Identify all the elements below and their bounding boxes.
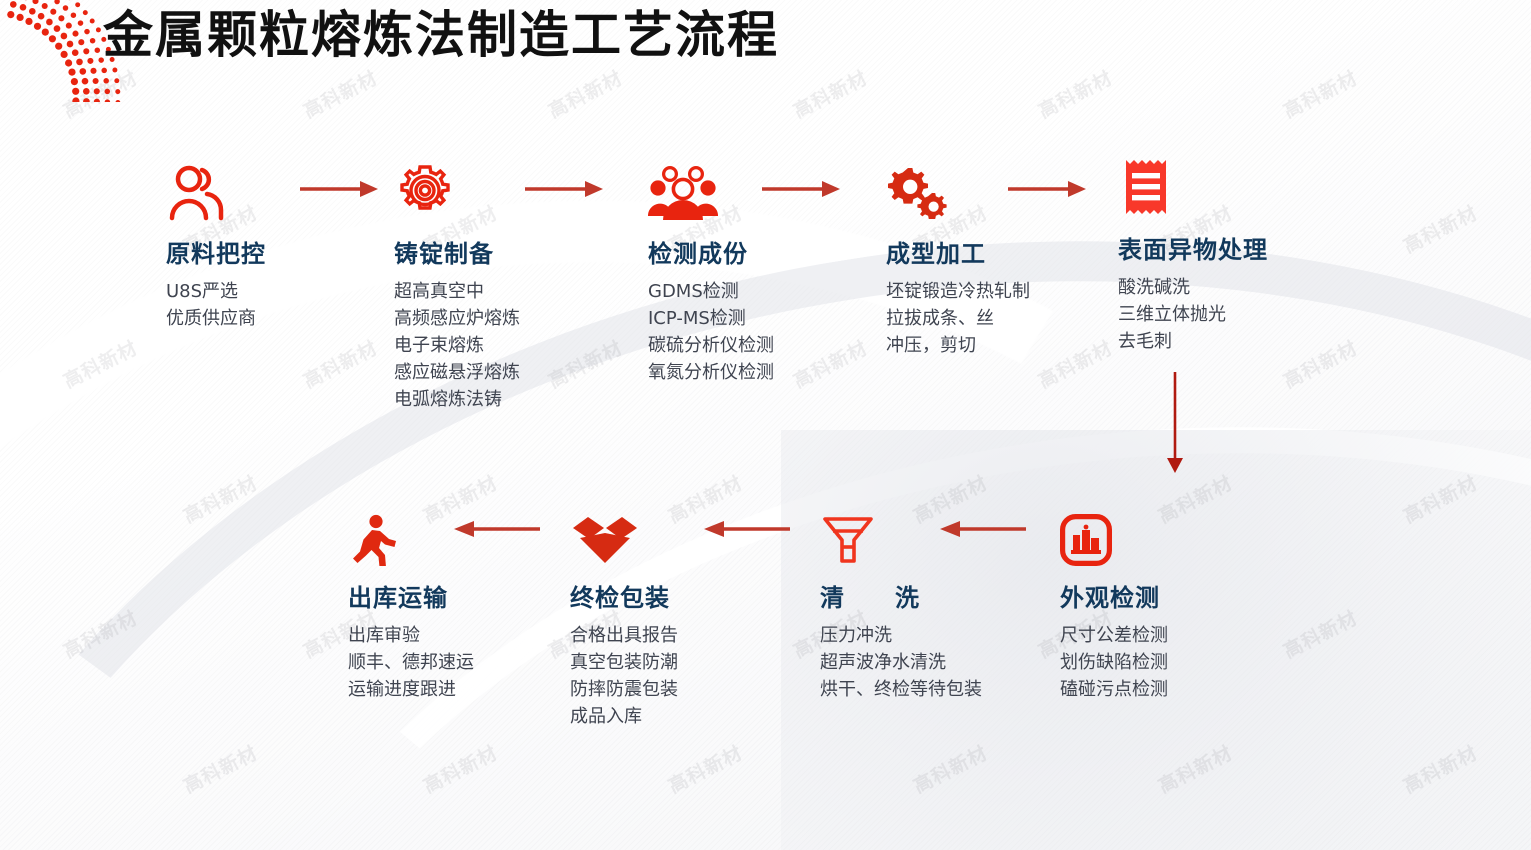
body-line: 拉拔成条、丝 bbox=[886, 305, 1030, 332]
flow-step-7-body: 压力冲洗超声波净水清洗烘干、终检等待包装 bbox=[820, 622, 998, 703]
body-line: 三维立体抛光 bbox=[1118, 301, 1268, 328]
flow-arrow-1 bbox=[300, 178, 380, 200]
receipt-document-icon bbox=[1118, 156, 1268, 218]
flow-step-4-body: 坯锭锻造冷热轧制拉拔成条、丝冲压，剪切 bbox=[886, 278, 1030, 359]
watermark-text: 高科新材 bbox=[1398, 738, 1482, 798]
body-line: U8S严选 bbox=[166, 278, 266, 305]
gear-concentric-icon bbox=[394, 160, 520, 222]
funnel-icon bbox=[820, 504, 998, 566]
watermark-text: 高科新材 bbox=[58, 603, 142, 663]
watermark-text: 高科新材 bbox=[58, 333, 142, 393]
watermark-text: 高科新材 bbox=[543, 333, 627, 393]
body-line: 出库审验 bbox=[348, 622, 474, 649]
body-line: 磕碰污点检测 bbox=[1060, 676, 1168, 703]
body-line: ICP-MS检测 bbox=[648, 305, 774, 332]
background-decoration bbox=[0, 0, 1531, 850]
watermark-text: 高科新材 bbox=[1398, 198, 1482, 258]
flow-step-2-body: 超高真空中高频感应炉熔炼电子束熔炼感应磁悬浮熔炼电弧熔炼法铸 bbox=[394, 278, 520, 413]
body-line: 真空包装防潮 bbox=[570, 649, 678, 676]
slide-canvas: 高科新材高科新材高科新材高科新材高科新材高科新材高科新材高科新材高科新材高科新材… bbox=[0, 0, 1531, 850]
body-line: 氧氮分析仪检测 bbox=[648, 359, 774, 386]
flow-step-1-body: U8S严选优质供应商 bbox=[166, 278, 266, 332]
watermark-layer: 高科新材高科新材高科新材高科新材高科新材高科新材高科新材高科新材高科新材高科新材… bbox=[0, 0, 1531, 850]
flow-step-9[interactable]: 出库运输 出库审验顺丰、德邦速运运输进度跟进 bbox=[348, 504, 474, 703]
flow-step-8[interactable]: 终检包装 合格出具报告真空包装防潮防摔防震包装成品入库 bbox=[570, 504, 678, 730]
body-line: 划伤缺陷检测 bbox=[1060, 649, 1168, 676]
page-title: 金属颗粒熔炼法制造工艺流程 bbox=[103, 4, 779, 66]
flow-step-3-title: 检测成份 bbox=[648, 234, 774, 269]
watermark-text: 高科新材 bbox=[1398, 468, 1482, 528]
body-line: 超高真空中 bbox=[394, 278, 520, 305]
flow-step-3[interactable]: 检测成份 GDMS检测ICP-MS检测碳硫分析仪检测氧氮分析仪检测 bbox=[648, 160, 774, 386]
background-swoosh-1 bbox=[0, 7, 1531, 850]
body-line: 烘干、终检等待包装 bbox=[820, 676, 998, 703]
watermark-text: 高科新材 bbox=[1278, 63, 1362, 123]
flow-step-7[interactable]: 清 洗 压力冲洗超声波净水清洗烘干、终检等待包装 bbox=[820, 504, 998, 703]
watermark-text: 高科新材 bbox=[298, 63, 382, 123]
flow-step-8-body: 合格出具报告真空包装防潮防摔防震包装成品入库 bbox=[570, 622, 678, 730]
body-line: 顺丰、德邦速运 bbox=[348, 649, 474, 676]
flow-step-1-title: 原料把控 bbox=[166, 234, 266, 269]
body-line: 超声波净水清洗 bbox=[820, 649, 998, 676]
flow-step-6-body: 尺寸公差检测划伤缺陷检测磕碰污点检测 bbox=[1060, 622, 1168, 703]
body-line: 尺寸公差检测 bbox=[1060, 622, 1168, 649]
background-hairline-stripes bbox=[0, 0, 1531, 850]
body-line: 去毛刺 bbox=[1118, 328, 1268, 355]
body-line: 坯锭锻造冷热轧制 bbox=[886, 278, 1030, 305]
watermark-text: 高科新材 bbox=[178, 468, 262, 528]
watermark-text: 高科新材 bbox=[1278, 333, 1362, 393]
watermark-text: 高科新材 bbox=[543, 63, 627, 123]
body-line: 成品入库 bbox=[570, 703, 678, 730]
body-line: 碳硫分析仪检测 bbox=[648, 332, 774, 359]
body-line: GDMS检测 bbox=[648, 278, 774, 305]
watermark-text: 高科新材 bbox=[663, 738, 747, 798]
body-line: 电弧熔炼法铸 bbox=[394, 386, 520, 413]
body-line: 压力冲洗 bbox=[820, 622, 998, 649]
flow-arrow-2 bbox=[525, 178, 605, 200]
flow-step-3-body: GDMS检测ICP-MS检测碳硫分析仪检测氧氮分析仪检测 bbox=[648, 278, 774, 386]
watermark-text: 高科新材 bbox=[178, 738, 262, 798]
watermark-text: 高科新材 bbox=[1033, 63, 1117, 123]
flow-step-8-title: 终检包装 bbox=[570, 578, 678, 613]
body-line: 冲压，剪切 bbox=[886, 332, 1030, 359]
watermark-text: 高科新材 bbox=[788, 63, 872, 123]
watermark-text: 高科新材 bbox=[908, 738, 992, 798]
flow-arrow-6 bbox=[702, 518, 790, 540]
flow-step-4-title: 成型加工 bbox=[886, 234, 1030, 269]
watermark-text: 高科新材 bbox=[418, 738, 502, 798]
body-line: 优质供应商 bbox=[166, 305, 266, 332]
two-people-outline-icon bbox=[166, 160, 266, 222]
watermark-text: 高科新材 bbox=[788, 333, 872, 393]
body-line: 高频感应炉熔炼 bbox=[394, 305, 520, 332]
body-line: 运输进度跟进 bbox=[348, 676, 474, 703]
flow-arrow-4 bbox=[1008, 178, 1088, 200]
flow-step-7-title: 清 洗 bbox=[820, 578, 998, 613]
flow-step-6-title: 外观检测 bbox=[1060, 578, 1168, 613]
flow-step-2-title: 铸锭制备 bbox=[394, 234, 520, 269]
body-line: 防摔防震包装 bbox=[570, 676, 678, 703]
flow-step-5-title: 表面异物处理 bbox=[1118, 230, 1268, 265]
people-group-icon bbox=[648, 160, 774, 222]
watermark-text: 高科新材 bbox=[1278, 603, 1362, 663]
flow-step-9-title: 出库运输 bbox=[348, 578, 474, 613]
background-gradient bbox=[0, 0, 1531, 850]
flow-step-2[interactable]: 铸锭制备 超高真空中高频感应炉熔炼电子束熔炼感应磁悬浮熔炼电弧熔炼法铸 bbox=[394, 160, 520, 413]
open-box-icon bbox=[570, 504, 678, 566]
watermark-text: 高科新材 bbox=[1153, 738, 1237, 798]
body-line: 合格出具报告 bbox=[570, 622, 678, 649]
factory-badge-icon bbox=[1060, 504, 1168, 566]
body-line: 酸洗碱洗 bbox=[1118, 274, 1268, 301]
watermark-text: 高科新材 bbox=[1033, 333, 1117, 393]
running-person-icon bbox=[348, 504, 474, 566]
flow-step-6[interactable]: 外观检测 尺寸公差检测划伤缺陷检测磕碰污点检测 bbox=[1060, 504, 1168, 703]
body-line: 电子束熔炼 bbox=[394, 332, 520, 359]
flow-arrow-3 bbox=[762, 178, 842, 200]
flow-step-1[interactable]: 原料把控 U8S严选优质供应商 bbox=[166, 160, 266, 332]
flow-step-5[interactable]: 表面异物处理 酸洗碱洗三维立体抛光去毛刺 bbox=[1118, 156, 1268, 355]
flow-arrow-vertical bbox=[1162, 372, 1188, 474]
watermark-text: 高科新材 bbox=[298, 333, 382, 393]
body-line: 感应磁悬浮熔炼 bbox=[394, 359, 520, 386]
flow-step-9-body: 出库审验顺丰、德邦速运运输进度跟进 bbox=[348, 622, 474, 703]
flow-step-5-body: 酸洗碱洗三维立体抛光去毛刺 bbox=[1118, 274, 1268, 355]
